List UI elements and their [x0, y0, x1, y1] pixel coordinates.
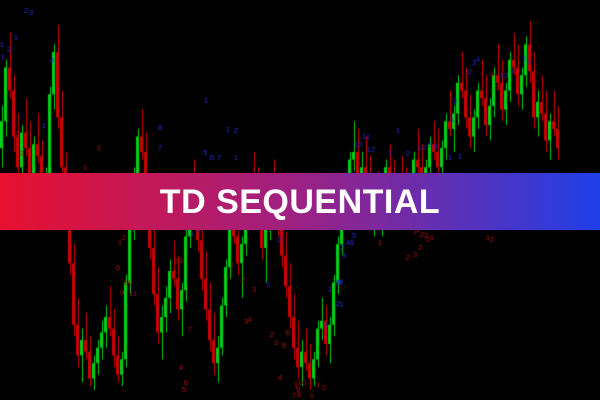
- title-banner: TD SEQUENTIAL: [0, 173, 600, 230]
- page-title: TD SEQUENTIAL: [160, 185, 440, 219]
- td-sequential-promo-image: TD SEQUENTIAL: [0, 0, 600, 400]
